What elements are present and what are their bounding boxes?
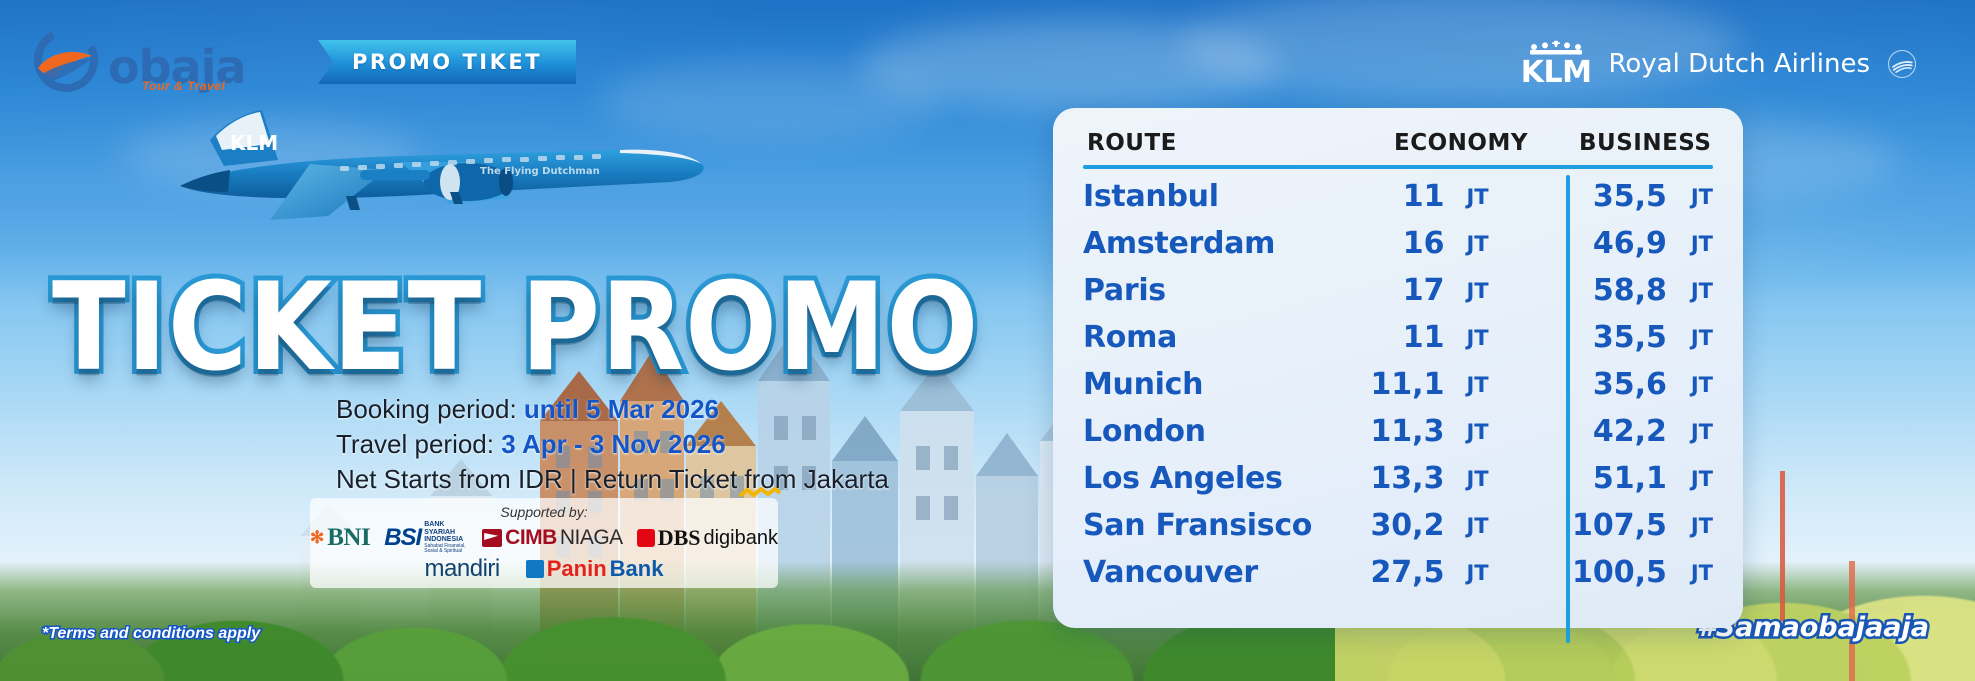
bank-logo-bsi[interactable]: BSI BANK SYARIAH INDONESIA Sahabat Finan… (384, 521, 468, 554)
cell-economy-value: 27,5 (1334, 555, 1445, 590)
klm-wordmark: KLM (1521, 58, 1592, 88)
bank-logo-panin[interactable]: Panin Bank (526, 556, 664, 582)
svg-text:KLM: KLM (230, 131, 278, 155)
page-title: TICKET PROMO (52, 258, 979, 398)
cell-economy-unit: JT (1444, 326, 1533, 350)
bank-logo-row-1: ✻ BNI BSI BANK SYARIAH INDONESIA Sahabat… (310, 525, 778, 551)
cell-business-unit: JT (1667, 326, 1713, 350)
cell-business-unit: JT (1667, 420, 1713, 444)
price-table-body: Istanbul11JT35,5JTAmsterdam16JT46,9JTPar… (1083, 173, 1713, 596)
header-divider (1083, 165, 1713, 169)
cell-business-value: 46,9 (1534, 226, 1667, 261)
net-price-note: Net Starts from IDR | Return Ticket from… (336, 462, 889, 497)
promo-ribbon-badge[interactable]: PROMO TIKET (318, 40, 576, 84)
bank-logo-mandiri[interactable]: mandiri (425, 555, 500, 583)
cell-route: Los Angeles (1083, 461, 1334, 496)
dbs-mark-icon (637, 529, 655, 547)
klm-logo[interactable]: KLM Royal Dutch Airlines (1521, 40, 1917, 88)
mandiri-wave-icon (738, 487, 782, 499)
cell-route: Paris (1083, 273, 1334, 308)
travel-period-label: Travel period: (336, 429, 494, 459)
table-row: Istanbul11JT35,5JT (1083, 173, 1713, 220)
cell-economy-unit: JT (1444, 514, 1533, 538)
table-row: San Fransisco30,2JT107,5JT (1083, 502, 1713, 549)
obaja-logo[interactable]: obaja Tour & Travel (30, 24, 245, 94)
bank-logo-dbs-digibank[interactable]: DBS digibank (637, 525, 778, 551)
supported-by-panel: Supported by: ✻ BNI BSI BANK SYARIAH IND… (310, 498, 778, 588)
cell-economy-unit: JT (1444, 279, 1533, 303)
cell-route: Roma (1083, 320, 1334, 355)
table-header-row: ROUTE ECONOMY BUSINESS (1083, 130, 1713, 156)
table-row: Amsterdam16JT46,9JT (1083, 220, 1713, 267)
cell-route: San Fransisco (1083, 508, 1334, 543)
cell-economy-unit: JT (1444, 232, 1533, 256)
cell-economy-unit: JT (1444, 420, 1533, 444)
cell-business-value: 35,5 (1534, 320, 1667, 355)
cell-business-unit: JT (1667, 561, 1713, 585)
niaga-label: NIAGA (560, 526, 623, 550)
cell-business-value: 35,6 (1534, 367, 1667, 402)
svg-text:The Flying Dutchman: The Flying Dutchman (480, 166, 600, 177)
column-header-route: ROUTE (1087, 130, 1355, 156)
cell-business-value: 42,2 (1534, 414, 1667, 449)
cell-economy-value: 13,3 (1334, 461, 1445, 496)
bni-mark-icon: ✻ (310, 528, 324, 548)
terms-note: *Terms and conditions apply (42, 625, 260, 643)
cell-business-value: 51,1 (1534, 461, 1667, 496)
promo-info-block: Booking period: until 5 Mar 2026 Travel … (336, 392, 889, 497)
airplane-illustration: KLM The Flying Dutchman (150, 100, 790, 240)
column-header-business: BUSINESS (1567, 130, 1711, 156)
cell-business-unit: JT (1667, 373, 1713, 397)
cell-route: Vancouver (1083, 555, 1334, 590)
klm-airline-name: Royal Dutch Airlines (1608, 49, 1870, 79)
bni-label: BNI (327, 524, 370, 552)
cell-economy-value: 11 (1334, 179, 1445, 214)
cell-economy-unit: JT (1444, 373, 1533, 397)
cimb-mark-icon (482, 529, 502, 547)
cell-business-unit: JT (1667, 185, 1713, 209)
table-row: Vancouver27,5JT100,5JT (1083, 549, 1713, 596)
price-table-card: ROUTE ECONOMY BUSINESS Istanbul11JT35,5J… (1053, 108, 1743, 628)
skyteam-icon (1887, 49, 1917, 79)
bsi-sub3: Sahabat Finansial, Sosial & Spiritual (424, 544, 468, 555)
cell-economy-value: 30,2 (1334, 508, 1445, 543)
table-row: London11,3JT42,2JT (1083, 408, 1713, 455)
cell-economy-unit: JT (1444, 185, 1533, 209)
cell-economy-value: 11,1 (1334, 367, 1445, 402)
booking-period-value: until 5 Mar 2026 (524, 394, 719, 424)
bsi-sublabels: BANK SYARIAH INDONESIA Sahabat Finansial… (424, 521, 468, 554)
cell-economy-value: 11 (1334, 320, 1445, 355)
cell-route: Istanbul (1083, 179, 1334, 214)
cell-business-unit: JT (1667, 279, 1713, 303)
cell-business-value: 35,5 (1534, 179, 1667, 214)
cell-economy-value: 16 (1334, 226, 1445, 261)
bank-logo-bni[interactable]: ✻ BNI (310, 524, 370, 552)
digibank-label: digibank (703, 527, 778, 550)
cell-business-unit: JT (1667, 232, 1713, 256)
dbs-label: DBS (658, 525, 701, 551)
booking-period-row: Booking period: until 5 Mar 2026 (336, 392, 889, 427)
cell-route: Munich (1083, 367, 1334, 402)
ribbon-body: PROMO TIKET (318, 40, 576, 84)
panin-mark-icon (526, 560, 544, 578)
pole-decor (1780, 471, 1785, 621)
obaja-mark-icon (30, 26, 102, 96)
obaja-tagline: Tour & Travel (142, 79, 225, 93)
cell-economy-value: 17 (1334, 273, 1445, 308)
cell-economy-value: 11,3 (1334, 414, 1445, 449)
cimb-label: CIMB (505, 526, 557, 550)
booking-period-label: Booking period: (336, 394, 517, 424)
cell-business-value: 58,8 (1534, 273, 1667, 308)
travel-period-row: Travel period: 3 Apr - 3 Nov 2026 (336, 427, 889, 462)
travel-period-value: 3 Apr - 3 Nov 2026 (501, 429, 725, 459)
cell-route: London (1083, 414, 1334, 449)
table-row: Munich11,1JT35,6JT (1083, 361, 1713, 408)
column-divider (1566, 175, 1570, 643)
cell-route: Amsterdam (1083, 226, 1334, 261)
bsi-sub1: BANK SYARIAH (424, 521, 468, 536)
table-row: Paris17JT58,8JT (1083, 267, 1713, 314)
cell-business-value: 100,5 (1534, 555, 1667, 590)
klm-mark: KLM (1521, 40, 1592, 88)
cell-economy-unit: JT (1444, 561, 1533, 585)
bank-logo-cimb-niaga[interactable]: CIMB NIAGA (482, 526, 623, 550)
panin-label: Panin (547, 556, 607, 582)
table-row: Roma11JT35,5JT (1083, 314, 1713, 361)
supported-by-title: Supported by: (310, 504, 778, 520)
mandiri-label: mandiri (425, 555, 500, 583)
crown-icon (1526, 40, 1586, 56)
column-header-economy: ECONOMY (1355, 130, 1567, 156)
bsi-label: BSI (384, 524, 421, 552)
panin-bank-label: Bank (610, 556, 664, 582)
table-row: Los Angeles13,3JT51,1JT (1083, 455, 1713, 502)
cell-business-unit: JT (1667, 514, 1713, 538)
cell-business-unit: JT (1667, 467, 1713, 491)
bank-logo-row-2: mandiri Panin Bank (310, 556, 778, 582)
cell-economy-unit: JT (1444, 467, 1533, 491)
ribbon-label: PROMO TIKET (352, 50, 542, 74)
cell-business-value: 107,5 (1534, 508, 1667, 543)
